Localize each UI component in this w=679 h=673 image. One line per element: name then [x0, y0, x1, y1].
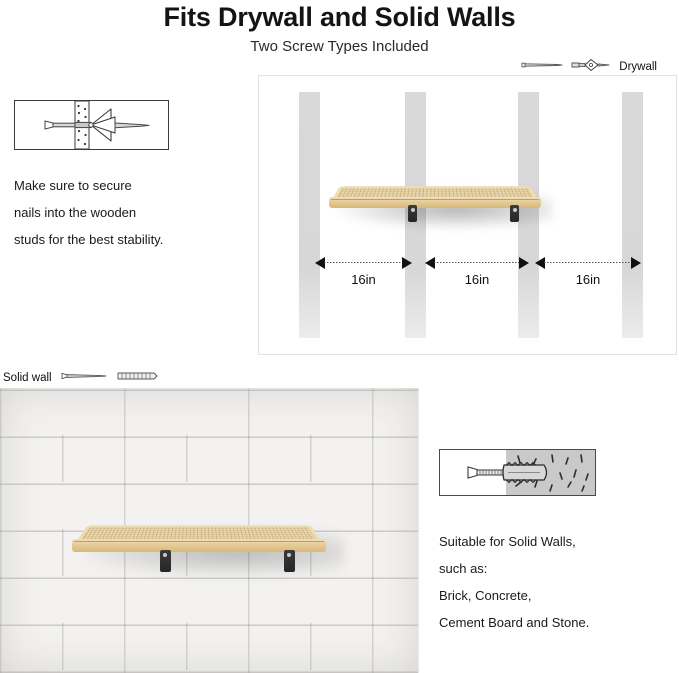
brick-course-offset [0, 623, 419, 670]
stud-spacing-measure-2: 16in [425, 256, 529, 274]
solid-note-line-1: Suitable for Solid Walls, [439, 528, 677, 555]
stud-spacing-measure-3: 16in [535, 256, 641, 274]
wall-stud-1 [299, 92, 320, 338]
measure-line [324, 262, 403, 263]
wall-plug-icon [116, 370, 158, 385]
solid-note-line-3: Brick, Concrete, [439, 582, 677, 609]
brick-course-offset [0, 435, 419, 482]
shelf-on-white-brick-wall [0, 388, 419, 673]
shelf-bracket-left [408, 205, 417, 222]
solid-wall-legend-label: Solid wall [3, 372, 52, 384]
rattan-wall-shelf [329, 171, 541, 219]
measure-line [434, 262, 520, 263]
screw-icon [60, 370, 108, 385]
drywall-stud-panel: 16in 16in 16in [258, 75, 677, 355]
arrow-left-icon [535, 257, 545, 269]
solid-note-line-2: such as: [439, 555, 677, 582]
infographic-page: Fits Drywall and Solid Walls Two Screw T… [0, 0, 679, 673]
drywall-note: Make sure to secure nails into the woode… [14, 172, 254, 253]
arrow-right-icon [402, 257, 412, 269]
arrow-left-icon [425, 257, 435, 269]
solid-wall-note: Suitable for Solid Walls, such as: Brick… [439, 528, 677, 636]
arrow-right-icon [631, 257, 641, 269]
drywall-legend-label: Drywall [619, 61, 657, 73]
wall-stud-4 [622, 92, 643, 338]
page-subtitle: Two Screw Types Included [0, 38, 679, 55]
drywall-note-line-3: studs for the best stability. [14, 226, 254, 253]
arrow-right-icon [519, 257, 529, 269]
measure-label-3: 16in [535, 272, 641, 287]
rattan-wall-shelf [72, 506, 326, 566]
solid-note-line-4: Cement Board and Stone. [439, 609, 677, 636]
stud-spacing-measure-1: 16in [315, 256, 412, 274]
shelf-bracket-right [510, 205, 519, 222]
shelf-bracket-left [160, 550, 171, 572]
drywall-anchor-cross-section [14, 100, 169, 150]
shelf-bracket-right [284, 550, 295, 572]
drywall-legend: Drywall [519, 58, 657, 75]
nail-icon [519, 59, 563, 74]
drywall-note-line-1: Make sure to secure [14, 172, 254, 199]
measure-label-2: 16in [425, 272, 529, 287]
arrow-left-icon [315, 257, 325, 269]
page-title: Fits Drywall and Solid Walls [0, 2, 679, 33]
measure-label-1: 16in [315, 272, 412, 287]
solid-wall-legend: Solid wall [3, 370, 158, 385]
solid-wall-plug-cross-section [439, 449, 596, 496]
drywall-note-line-2: nails into the wooden [14, 199, 254, 226]
drywall-anchor-icon [571, 58, 611, 75]
measure-line [544, 262, 632, 263]
